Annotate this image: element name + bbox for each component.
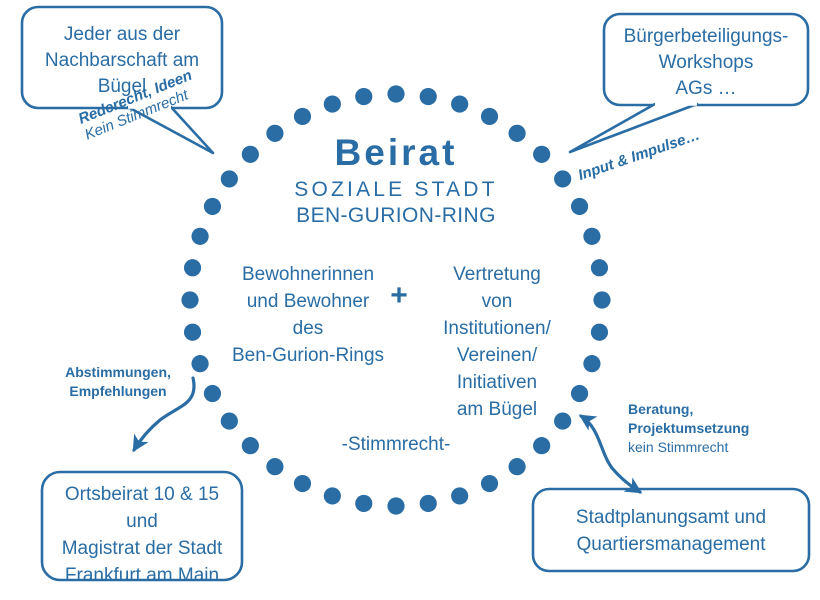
label-bottom-right-line-2: Projektumsetzung	[628, 419, 818, 438]
center-right-line-6: am Bügel	[417, 397, 577, 424]
box-bottom-left-line-2: und	[44, 509, 240, 536]
ring-dot	[583, 228, 600, 245]
ring-dot	[451, 487, 468, 504]
ring-dot	[324, 95, 341, 112]
ring-dot	[420, 495, 437, 512]
ring-dot	[591, 324, 608, 341]
ring-dot	[583, 355, 600, 372]
ring-dot	[554, 170, 571, 187]
center-right-line-1: Vertretung	[417, 262, 577, 289]
ring-dot	[266, 458, 283, 475]
ring-dot	[294, 108, 311, 125]
label-bottom-left-line-1: Abstimmungen,	[38, 363, 198, 382]
bubble-top-right-line-3: AGs …	[606, 76, 806, 102]
ring-dot	[355, 88, 372, 105]
ring-dot	[204, 198, 221, 215]
ring-dot	[420, 88, 437, 105]
ring-dot	[533, 437, 550, 454]
ring-dot	[387, 497, 404, 514]
label-bottom-right-line-3: kein Stimmrecht	[628, 438, 818, 457]
plus-symbol: +	[385, 281, 413, 311]
page-subtitle-1: SOZIALE STADT	[246, 177, 546, 204]
page-subtitle-2: BEN-GURION-RING	[246, 203, 546, 230]
ring-dot	[591, 259, 608, 276]
label-bottom-right: Beratung, Projektumsetzung kein Stimmrec…	[628, 400, 818, 457]
ring-dot	[324, 487, 341, 504]
center-right-line-5: Initiativen	[417, 370, 577, 397]
ring-dot	[242, 437, 259, 454]
ring-dot	[294, 475, 311, 492]
ring-dot	[481, 108, 498, 125]
ring-dot	[184, 324, 201, 341]
ring-dot	[221, 412, 238, 429]
center-left-line-3: des	[218, 316, 398, 343]
center-left-line-1: Bewohnerinnen	[218, 262, 398, 289]
ring-dot	[191, 228, 208, 245]
ring-dot	[508, 458, 525, 475]
box-bottom-right-line-1: Stadtplanungsamt und	[535, 505, 807, 532]
bubble-top-right-line-2: Workshops	[606, 50, 806, 76]
box-bottom-left-line-1: Ortsbeirat 10 & 15	[44, 482, 240, 509]
ring-dot	[221, 170, 238, 187]
diagram-canvas: Jeder aus der Nachbarschaft am Bügel Bür…	[0, 0, 820, 600]
ring-dot	[181, 291, 198, 308]
center-footer-label: -Stimmrecht-	[296, 433, 496, 457]
ring-dot	[451, 95, 468, 112]
center-right-column: Vertretung von Institutionen/ Vereinen/ …	[417, 262, 577, 424]
bubble-top-right-text: Bürgerbeteiligungs- Workshops AGs …	[606, 24, 806, 101]
box-bottom-right-line-2: Quartiersmanagement	[535, 532, 807, 559]
ring-dot	[571, 198, 588, 215]
ring-dot	[355, 495, 372, 512]
box-bottom-left-line-3: Magistrat der Stadt	[44, 536, 240, 563]
ring-dot	[387, 85, 404, 102]
center-left-line-2: und Bewohner	[218, 289, 398, 316]
box-bottom-right-text: Stadtplanungsamt und Quartiersmanagement	[535, 505, 807, 559]
label-bottom-right-line-1: Beratung,	[628, 400, 818, 419]
box-bottom-left-line-4: Frankfurt am Main	[44, 563, 240, 590]
center-right-line-3: Institutionen/	[417, 316, 577, 343]
box-bottom-left-text: Ortsbeirat 10 & 15 und Magistrat der Sta…	[44, 482, 240, 590]
label-bottom-left: Abstimmungen, Empfehlungen	[38, 363, 198, 401]
center-right-line-2: von	[417, 289, 577, 316]
page-title: Beirat	[246, 129, 546, 176]
ring-dot	[204, 385, 221, 402]
label-bottom-left-line-2: Empfehlungen	[38, 382, 198, 401]
ring-dot	[481, 475, 498, 492]
ring-dot	[184, 259, 201, 276]
center-left-line-4: Ben-Gurion-Rings	[218, 343, 398, 370]
center-left-column: Bewohnerinnen und Bewohner des Ben-Gurio…	[218, 262, 398, 370]
bubble-top-right-line-1: Bürgerbeteiligungs-	[606, 24, 806, 50]
bubble-top-left-line-1: Jeder aus der	[26, 22, 218, 48]
ring-dot	[593, 291, 610, 308]
center-right-line-4: Vereinen/	[417, 343, 577, 370]
